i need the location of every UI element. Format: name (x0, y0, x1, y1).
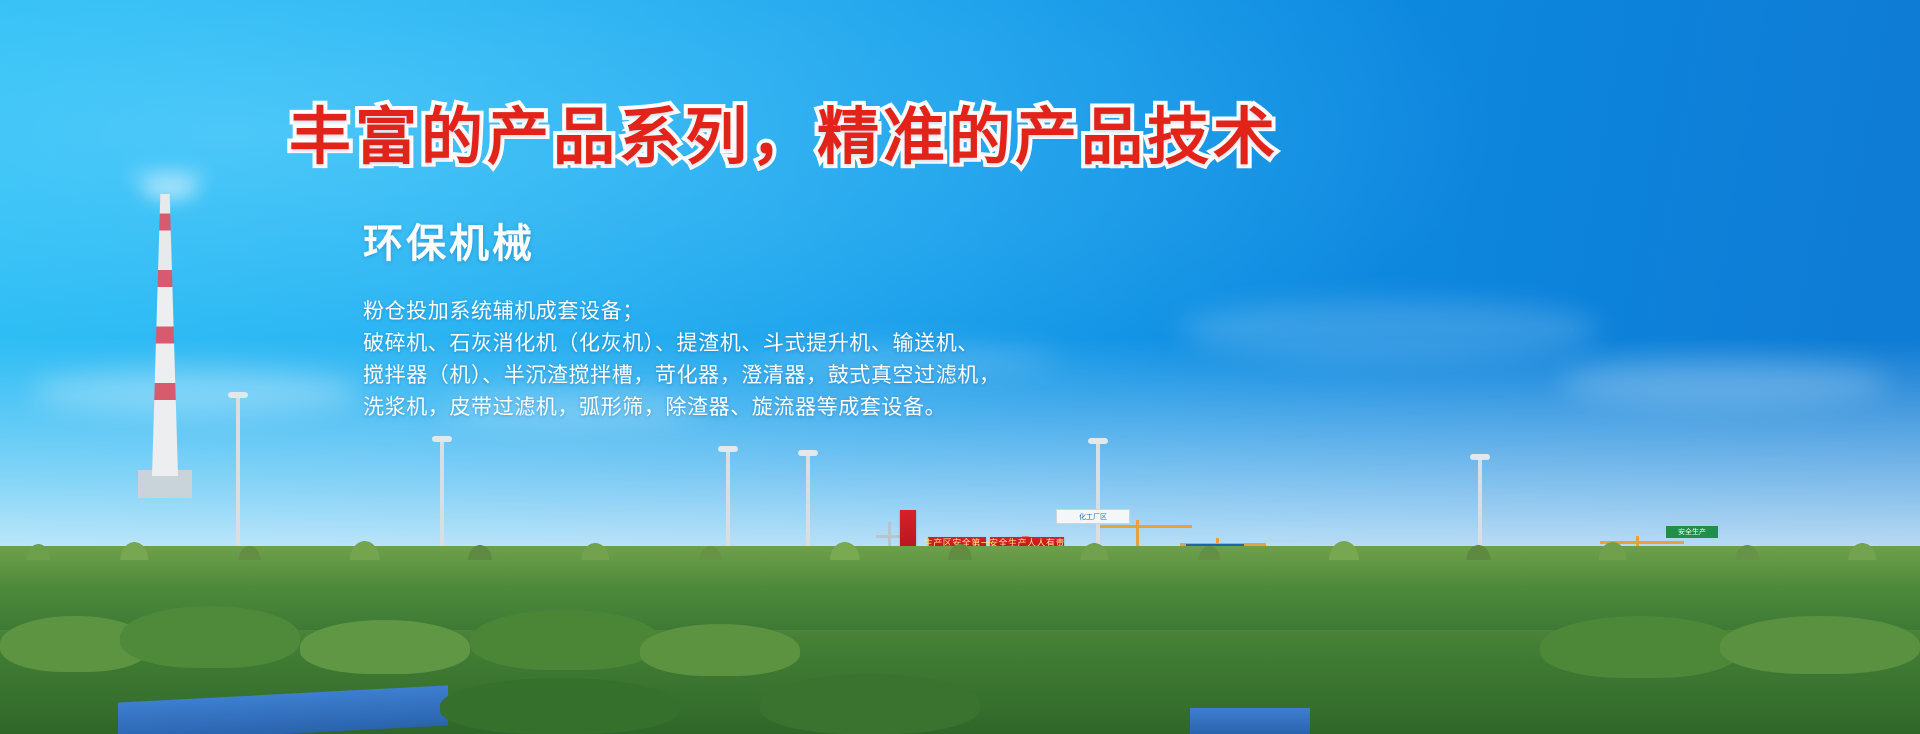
hero-banner: 化工厂区 中国石化 安全生产 生产区安全第一 安全生产人人有责 丰富的产品系列，… (0, 0, 1920, 734)
shrub (640, 624, 800, 676)
shrub (1540, 616, 1740, 678)
description-line-3: 搅拌器（机）、半沉渣搅拌槽，苛化器，澄清器，鼓式真空过滤机， (363, 360, 1001, 392)
shrub (300, 620, 470, 674)
lamp-head (1470, 454, 1490, 460)
shrub (120, 606, 300, 668)
site-sign-white: 化工厂区 (1056, 509, 1130, 524)
lamp-head (1088, 438, 1108, 444)
description-line-4: 洗浆机，皮带过滤机，弧形筛，除渣器、旋流器等成套设备。 (363, 392, 1001, 424)
shrub (1720, 616, 1920, 674)
banner-description: 粉仓投加系统辅机成套设备； 破碎机、石灰消化机（化灰机）、提渣机、斗式提升机、输… (363, 296, 1001, 424)
site-sign-text: 化工厂区 (1079, 512, 1107, 522)
cloud (1560, 360, 1890, 406)
lamp-head (432, 436, 452, 442)
lamp-head (228, 392, 248, 398)
description-line-1: 粉仓投加系统辅机成套设备； (363, 296, 1001, 328)
description-line-2: 破碎机、石灰消化机（化灰机）、提渣机、斗式提升机、输送机、 (363, 328, 1001, 360)
banner-subtitle: 环保机械 (363, 222, 535, 266)
page-title: 丰富的产品系列，精准的产品技术 (289, 104, 1279, 169)
lamp-head (798, 450, 818, 456)
crane-jib (1096, 525, 1192, 528)
blue-roof-building (1190, 708, 1310, 734)
shrub (440, 678, 680, 734)
shrub (470, 610, 660, 670)
lamp-head (718, 446, 738, 452)
shrub (760, 674, 980, 734)
smoke-plume (128, 168, 208, 186)
